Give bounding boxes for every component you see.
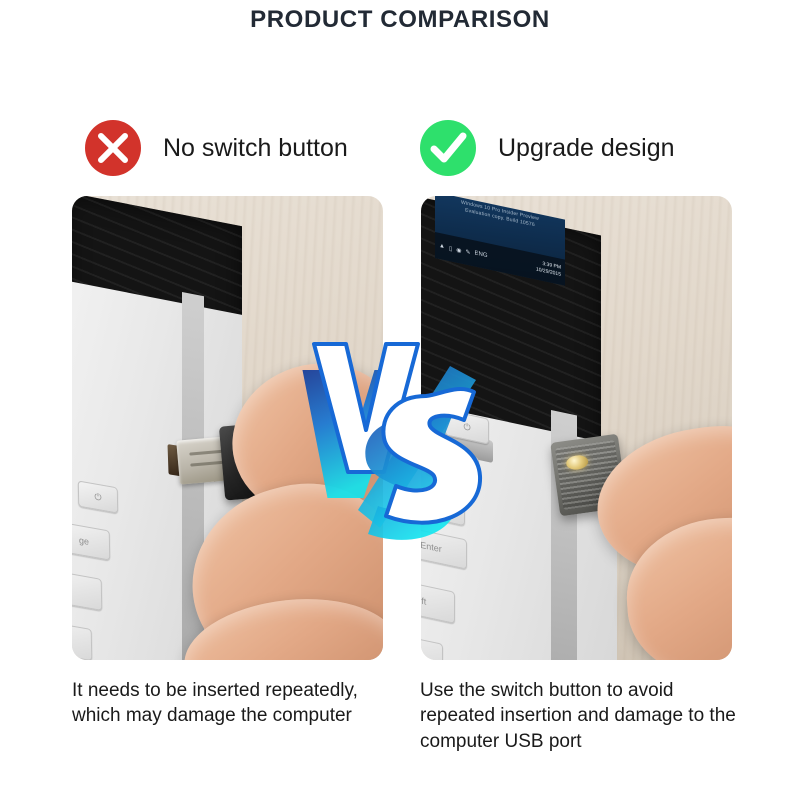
- badge-label-left: No switch button: [163, 136, 348, 161]
- network-icon[interactable]: ▯: [449, 244, 452, 252]
- taskbar-tray-icons[interactable]: ▲ ▯ ◉ ✎ ENG: [439, 242, 488, 259]
- photo-panel-left: ⏻ ge: [72, 196, 383, 660]
- captions: It needs to be inserted repeatedly, whic…: [0, 678, 800, 788]
- caption-right: Use the switch button to avoid repeated …: [420, 678, 750, 754]
- page-title: PRODUCT COMPARISON: [0, 6, 800, 34]
- comparison-badge-left: No switch button: [85, 120, 348, 176]
- photo-panel-right: Windows 10 Pro Insider Preview Evaluatio…: [421, 196, 732, 660]
- product-comparison-page: PRODUCT COMPARISON No switch button Upgr…: [0, 0, 800, 800]
- cross-icon: [85, 120, 141, 176]
- badge-row: No switch button Upgrade design: [0, 120, 800, 182]
- badge-label-right: Upgrade design: [498, 136, 675, 161]
- photo-panels: ⏻ ge Windows 10 Pro Insider Preview Eval…: [0, 196, 800, 662]
- volume-icon[interactable]: ◉: [456, 246, 461, 254]
- taskbar-clock[interactable]: 3:39 PM 10/29/2015: [536, 259, 561, 278]
- action-center-icon[interactable]: ✎: [466, 248, 471, 256]
- chevron-up-icon[interactable]: ▲: [439, 243, 445, 250]
- language-indicator[interactable]: ENG: [475, 250, 488, 259]
- comparison-badge-right: Upgrade design: [420, 120, 675, 176]
- caption-left: It needs to be inserted repeatedly, whic…: [72, 678, 392, 729]
- check-icon: [420, 120, 476, 176]
